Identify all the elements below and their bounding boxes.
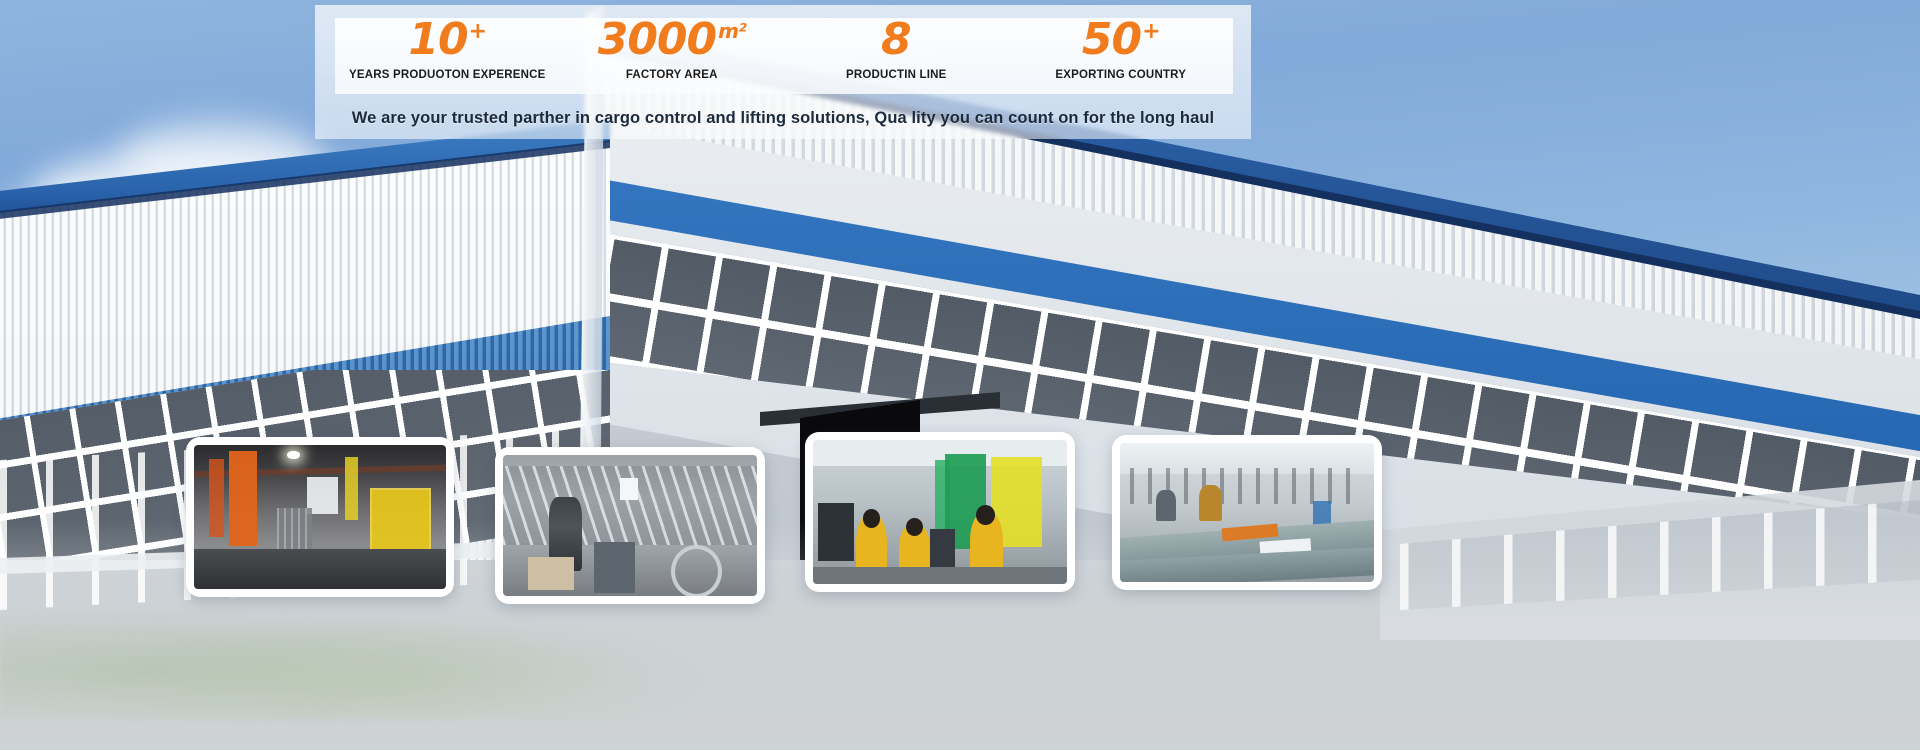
stat-value: 10+ [408, 18, 486, 62]
stat-caption: EXPORTING COUNTRY [1009, 69, 1234, 81]
stat-suffix: + [1142, 19, 1159, 44]
stat-caption: PRODUCTIN LINE [784, 69, 1009, 81]
stat-value: 3000m² [598, 18, 746, 62]
stat-value: 50+ [1082, 18, 1160, 62]
stat-production-line: 8 PRODUCTIN LINE [784, 14, 1009, 81]
stat-unit: m² [718, 19, 746, 43]
thumbnail-image-workshop-aisle [194, 445, 446, 589]
thumbnail-card[interactable] [495, 447, 765, 604]
thumbnail-image-assembly-benches [1120, 443, 1374, 582]
stat-caption: FACTORY AREA [560, 69, 785, 81]
thumbnail-image-sewing-line [813, 440, 1067, 584]
thumbnail-strip [0, 430, 1920, 750]
stat-exporting-country: 50+ EXPORTING COUNTRY [1009, 14, 1234, 81]
hero-banner: 10+ YEARS PRODUOTON EXPERENCE 3000m² FAC… [0, 0, 1920, 750]
stat-caption: YEARS PRODUOTON EXPERENCE [335, 69, 560, 81]
thumbnail-card[interactable] [1112, 435, 1382, 590]
stat-years-experience: 10+ YEARS PRODUOTON EXPERENCE [335, 14, 560, 81]
stat-factory-area: 3000m² FACTORY AREA [560, 14, 785, 81]
thumbnail-image-weaving-machines [503, 455, 757, 596]
thumbnail-card[interactable] [186, 437, 454, 597]
stats-row: 10+ YEARS PRODUOTON EXPERENCE 3000m² FAC… [335, 14, 1233, 96]
hero-tagline: We are your trusted parther in cargo con… [315, 100, 1251, 136]
stat-value: 8 [881, 18, 912, 62]
thumbnail-card[interactable] [805, 432, 1075, 592]
stat-suffix: + [469, 19, 486, 44]
